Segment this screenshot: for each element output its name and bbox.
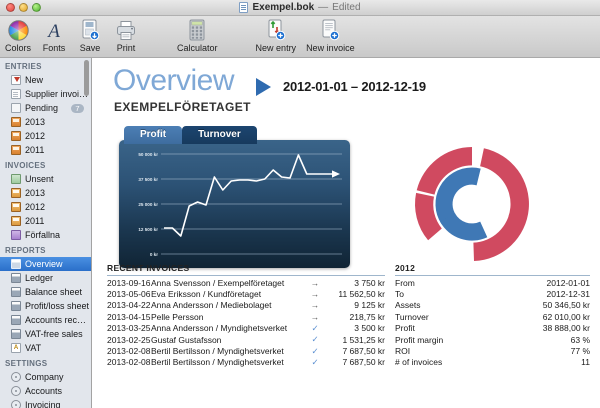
- summary-row: From2012-01-01: [395, 277, 590, 288]
- sidebar-item-2011[interactable]: 2011: [0, 214, 91, 228]
- report-book-icon: [11, 273, 21, 283]
- new-invoice-icon: [320, 18, 340, 42]
- chart-tabs[interactable]: Profit Turnover: [124, 126, 257, 144]
- sidebar-item-balance-sheet[interactable]: Balance sheet: [0, 285, 91, 299]
- calculator-label: Calculator: [177, 43, 218, 53]
- sidebar-item-overview[interactable]: Overview: [0, 257, 91, 271]
- sidebar-item-label: Company: [25, 372, 64, 382]
- edited-status: Edited: [332, 2, 360, 13]
- invoice-customer: Anna Svensson / Exempelföretaget: [151, 278, 307, 288]
- report-book-icon: [11, 301, 21, 311]
- fonts-button[interactable]: A Fonts: [36, 18, 72, 53]
- sidebar-item-vat[interactable]: AVAT: [0, 341, 91, 355]
- document-title-text: Exempel.bok: [252, 2, 314, 13]
- chart-y-tick-label: 25 000 kr: [138, 202, 158, 207]
- new-entry-icon: [11, 75, 21, 85]
- summary-row: Profit38 888,00 kr: [395, 323, 590, 334]
- sidebar-item-2013[interactable]: 2013: [0, 115, 91, 129]
- invoice-status-icon: ✓: [307, 334, 323, 345]
- report-book-icon: [11, 259, 21, 269]
- font-a-icon: A: [44, 18, 64, 42]
- summary-value: 50 346,50 kr: [543, 300, 590, 310]
- report-book-icon: [11, 315, 21, 325]
- colors-button[interactable]: Colors: [0, 18, 36, 53]
- sidebar-item-label: VAT-free sales: [25, 329, 83, 339]
- sidebar-item-label: Ledger: [25, 273, 53, 283]
- save-label: Save: [80, 43, 101, 53]
- summary-table: 2012 From2012-01-01To2012-12-31Assets50 …: [395, 263, 590, 368]
- new-invoice-label: New invoice: [306, 43, 355, 53]
- summary-value: 77 %: [571, 346, 590, 356]
- overdue-icon: [11, 230, 21, 240]
- summary-value: 11: [581, 357, 590, 367]
- color-wheel-icon: [8, 18, 29, 42]
- summary-divider: [395, 275, 590, 276]
- sidebar-item-label: Accounts rece…: [25, 315, 91, 325]
- summary-rows: From2012-01-01To2012-12-31Assets50 346,5…: [395, 277, 590, 368]
- invoice-date: 2013-02-08: [107, 346, 151, 356]
- summary-label: # of invoices: [395, 357, 581, 367]
- print-button[interactable]: Print: [108, 18, 144, 53]
- new-invoice-button[interactable]: New invoice: [301, 18, 360, 53]
- table-row[interactable]: 2013-03-25Anna Andersson / Myndighetsver…: [107, 323, 385, 334]
- new-entry-label: New entry: [256, 43, 297, 53]
- sidebar-item-label: 2011: [25, 216, 44, 226]
- summary-value: 2012-12-31: [547, 289, 590, 299]
- summary-label: Profit: [395, 323, 543, 333]
- date-range[interactable]: 2012-01-01 – 2012-12-19: [283, 79, 426, 94]
- sidebar-item-accounts-rece[interactable]: Accounts rece…: [0, 313, 91, 327]
- invoice-box-icon: [11, 216, 21, 226]
- window-titlebar: Exempel.bok — Edited: [0, 0, 600, 16]
- new-entry-icon: [266, 18, 286, 42]
- invoice-status-icon: →: [307, 278, 323, 288]
- sidebar[interactable]: ENTRIESNewSupplier invoicesPending720132…: [0, 58, 92, 408]
- invoice-amount: 7 687,50 kr: [323, 357, 385, 367]
- summary-row: Turnover62 010,00 kr: [395, 311, 590, 322]
- sidebar-item-ledger[interactable]: Ledger: [0, 271, 91, 285]
- summary-label: To: [395, 289, 547, 299]
- close-button[interactable]: [6, 3, 15, 12]
- sidebar-item-unsent[interactable]: Unsent: [0, 172, 91, 186]
- sidebar-item-label: Balance sheet: [25, 287, 82, 297]
- summary-value: 2012-01-01: [547, 278, 590, 288]
- company-name: EXEMPELFÖRETAGET: [114, 100, 251, 114]
- sidebar-item-pending[interactable]: Pending7: [0, 101, 91, 115]
- summary-row: To2012-12-31: [395, 288, 590, 299]
- printer-icon: [115, 18, 137, 42]
- recent-invoices-title: RECENT INVOICES: [107, 263, 385, 275]
- summary-row: # of invoices11: [395, 357, 590, 368]
- distribution-donut-chart[interactable]: [406, 140, 546, 271]
- sidebar-section-header-reports: REPORTS: [0, 242, 91, 257]
- chart-y-tick-label: 37 500 kr: [138, 177, 158, 182]
- sidebar-item-label: 2012: [25, 131, 45, 141]
- invoice-customer: Gustaf Gustafsson: [151, 335, 307, 345]
- minimize-button[interactable]: [19, 3, 28, 12]
- summary-value: 62 010,00 kr: [543, 312, 590, 322]
- table-row[interactable]: 2013-05-06Eva Eriksson / Kundföretaget→1…: [107, 288, 385, 299]
- table-row[interactable]: 2013-02-25Gustaf Gustafsson✓1 531,25 kr: [107, 334, 385, 345]
- invoice-customer: Anna Andersson / Mediebolaget: [151, 300, 307, 310]
- box-icon: [11, 145, 21, 155]
- sidebar-section-header-invoices: INVOICES: [0, 157, 91, 172]
- summary-label: Profit margin: [395, 335, 571, 345]
- main-toolbar: Colors A Fonts Save: [0, 16, 600, 58]
- sidebar-item-label: Accounts: [25, 386, 62, 396]
- invoice-customer: Bertil Bertilsson / Myndighetsverket: [151, 357, 307, 367]
- sidebar-item-label: Supplier invoices: [25, 89, 91, 99]
- tab-turnover[interactable]: Turnover: [182, 126, 257, 144]
- tab-profit[interactable]: Profit: [124, 126, 182, 144]
- sidebar-item-label: Overview: [25, 259, 63, 269]
- table-row[interactable]: 2013-04-15Pelle Persson→218,75 kr: [107, 311, 385, 322]
- invoice-date: 2013-09-16: [107, 278, 151, 288]
- invoice-status-icon: →: [307, 289, 323, 299]
- title-separator: —: [318, 2, 328, 13]
- gear-icon: [11, 372, 21, 382]
- summary-label: Turnover: [395, 312, 543, 322]
- print-label: Print: [117, 43, 136, 53]
- invoice-amount: 7 687,50 kr: [323, 346, 385, 356]
- sidebar-item-badge: 7: [71, 104, 84, 113]
- invoice-amount: 3 750 kr: [323, 278, 385, 288]
- save-document-icon: [80, 18, 100, 42]
- invoice-amount: 218,75 kr: [323, 312, 385, 322]
- sidebar-item-label: 2013: [25, 188, 45, 198]
- zoom-button[interactable]: [32, 3, 41, 12]
- invoice-date: 2013-05-06: [107, 289, 151, 299]
- invoice-date: 2013-02-08: [107, 357, 151, 367]
- table-row[interactable]: 2013-04-22Anna Andersson / Mediebolaget→…: [107, 300, 385, 311]
- sidebar-item-profit-loss-sheet[interactable]: Profit/loss sheet: [0, 299, 91, 313]
- box-icon: [11, 131, 21, 141]
- table-row[interactable]: 2013-02-08Bertil Bertilsson / Myndighets…: [107, 357, 385, 368]
- summary-row: ROI77 %: [395, 345, 590, 356]
- gear-icon: [11, 386, 21, 396]
- report-book-icon: [11, 287, 21, 297]
- profit-line-chart[interactable]: 50 000 kr37 500 kr25 000 kr12 500 kr0 kr: [119, 140, 350, 268]
- sidebar-sections: ENTRIESNewSupplier invoicesPending720132…: [0, 58, 91, 408]
- sidebar-item-new[interactable]: New: [0, 73, 91, 87]
- sidebar-item-2013[interactable]: 2013: [0, 186, 91, 200]
- invoice-date: 2013-04-22: [107, 300, 151, 310]
- main-content: Overview EXEMPELFÖRETAGET 2012-01-01 – 2…: [93, 58, 600, 408]
- recent-invoices-rows: 2013-09-16Anna Svensson / Exempelföretag…: [107, 277, 385, 368]
- summary-value: 63 %: [571, 335, 590, 345]
- chart-y-tick-label: 50 000 kr: [138, 152, 158, 157]
- document-icon: [11, 89, 21, 99]
- invoice-status-icon: ✓: [307, 357, 323, 368]
- sidebar-item-accounts[interactable]: Accounts: [0, 384, 91, 398]
- table-row[interactable]: 2013-02-08Bertil Bertilsson / Myndighets…: [107, 345, 385, 356]
- invoice-status-icon: ✓: [307, 346, 323, 357]
- invoice-date: 2013-04-15: [107, 312, 151, 322]
- sidebar-section-header-settings: SETTINGS: [0, 355, 91, 370]
- sidebar-item-label: New: [25, 75, 43, 85]
- invoice-box-icon: [11, 202, 21, 212]
- summary-label: Assets: [395, 300, 543, 310]
- invoice-amount: 3 500 kr: [323, 323, 385, 333]
- chart-arrowhead: [332, 170, 340, 177]
- summary-label: From: [395, 278, 547, 288]
- sidebar-item-2012[interactable]: 2012: [0, 129, 91, 143]
- pending-icon: [11, 103, 21, 113]
- invoice-date: 2013-02-25: [107, 335, 151, 345]
- new-entry-button[interactable]: New entry: [251, 18, 302, 53]
- invoice-status-icon: →: [307, 300, 323, 310]
- sidebar-item-invoicing[interactable]: Invoicing: [0, 398, 91, 408]
- colors-label: Colors: [5, 43, 31, 53]
- chart-y-tick-label: 0 kr: [150, 252, 158, 257]
- save-button[interactable]: Save: [72, 18, 108, 53]
- sidebar-item-2011[interactable]: 2011: [0, 143, 91, 157]
- fonts-label: Fonts: [43, 43, 66, 53]
- sidebar-item-label: Invoicing: [25, 400, 61, 408]
- invoice-customer: Eva Eriksson / Kundföretaget: [151, 289, 307, 299]
- vat-icon: A: [11, 343, 21, 353]
- chart-y-tick-label: 12 500 kr: [138, 227, 158, 232]
- invoice-date: 2013-03-25: [107, 323, 151, 333]
- sidebar-item-2012[interactable]: 2012: [0, 200, 91, 214]
- invoice-customer: Anna Andersson / Myndighetsverket: [151, 323, 307, 333]
- sidebar-item-label: Pending: [25, 103, 58, 113]
- summary-row: Assets50 346,50 kr: [395, 300, 590, 311]
- invoice-amount: 1 531,25 kr: [323, 335, 385, 345]
- summary-row: Profit margin63 %: [395, 334, 590, 345]
- sidebar-item-label: VAT: [25, 343, 41, 353]
- sidebar-item-label: 2013: [25, 117, 45, 127]
- recent-invoices-divider: [107, 275, 385, 276]
- sidebar-item-company[interactable]: Company: [0, 370, 91, 384]
- unsent-icon: [11, 174, 21, 184]
- box-icon: [11, 117, 21, 127]
- gear-icon: [11, 400, 21, 408]
- play-triangle-icon[interactable]: [256, 78, 271, 96]
- invoice-status-icon: ✓: [307, 323, 323, 334]
- svg-text:A: A: [46, 21, 60, 41]
- sidebar-item-supplier-invoices[interactable]: Supplier invoices: [0, 87, 91, 101]
- page-title: Overview: [113, 64, 234, 98]
- sidebar-item-label: Profit/loss sheet: [25, 301, 89, 311]
- calculator-button[interactable]: Calculator: [172, 18, 223, 53]
- donut-chart-svg: [406, 140, 546, 268]
- document-icon: [239, 2, 248, 13]
- sidebar-item-vat-free-sales[interactable]: VAT-free sales: [0, 327, 91, 341]
- invoice-box-icon: [11, 188, 21, 198]
- recent-invoices-table: RECENT INVOICES 2013-09-16Anna Svensson …: [107, 263, 385, 368]
- invoice-customer: Bertil Bertilsson / Myndighetsverket: [151, 346, 307, 356]
- chart-line-series: [164, 155, 332, 236]
- report-book-icon: [11, 329, 21, 339]
- invoice-amount: 11 562,50 kr: [323, 289, 385, 299]
- app-window: Exempel.bok — Edited: [0, 0, 600, 408]
- invoice-amount: 9 125 kr: [323, 300, 385, 310]
- sidebar-item-label: 2011: [25, 145, 44, 155]
- calculator-icon: [188, 18, 206, 42]
- document-title: Exempel.bok — Edited: [239, 2, 360, 13]
- sidebar-item-label: 2012: [25, 202, 45, 212]
- sidebar-item-label: Unsent: [25, 174, 54, 184]
- invoice-customer: Pelle Persson: [151, 312, 307, 322]
- table-row[interactable]: 2013-09-16Anna Svensson / Exempelföretag…: [107, 277, 385, 288]
- summary-value: 38 888,00 kr: [543, 323, 590, 333]
- window-controls: [6, 3, 41, 12]
- sidebar-item-f-rfallna[interactable]: Förfallna: [0, 228, 91, 242]
- summary-label: ROI: [395, 346, 571, 356]
- invoice-status-icon: →: [307, 312, 323, 322]
- sidebar-section-header-entries: ENTRIES: [0, 58, 91, 73]
- line-chart-svg: 50 000 kr37 500 kr25 000 kr12 500 kr0 kr: [119, 140, 350, 268]
- summary-title: 2012: [395, 263, 590, 275]
- sidebar-item-label: Förfallna: [25, 230, 60, 240]
